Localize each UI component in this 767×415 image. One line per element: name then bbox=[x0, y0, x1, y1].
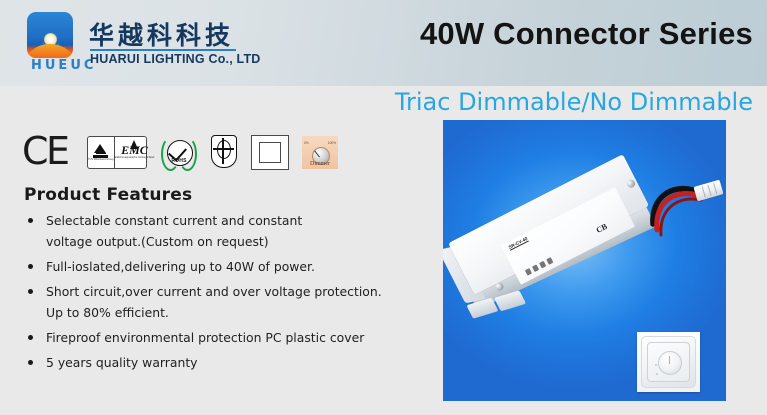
feature-line-1: Full-ioslated,delivering up to 40W of po… bbox=[46, 259, 315, 274]
brand-logo-block[interactable]: HUEUC 华越科科技 HUARUI LIGHTING Co., LTD bbox=[27, 12, 237, 74]
bullet-icon bbox=[28, 218, 33, 223]
brand-wordmark: HUEUC bbox=[31, 58, 96, 73]
wall-dimmer-switch-icon bbox=[637, 332, 700, 392]
rohs-label: ROHS bbox=[160, 158, 198, 164]
feature-item: Fireproof environmental protection PC pl… bbox=[24, 327, 424, 348]
feature-item: Full-ioslated,delivering up to 40W of po… bbox=[24, 256, 424, 277]
feature-line-2: voltage output.(Custom on request) bbox=[46, 231, 424, 252]
features-heading: Product Features bbox=[24, 185, 192, 205]
dimmer-label: Dimmer bbox=[302, 161, 338, 167]
shield-bar bbox=[213, 148, 234, 150]
page-subtitle: Triac Dimmable/No Dimmable bbox=[395, 88, 753, 116]
brand-divider-rule bbox=[90, 49, 236, 51]
ce-mark-icon: C E bbox=[22, 135, 74, 169]
certification-row: C E TUV Rheinland Group EMC Elektromagne… bbox=[22, 131, 338, 173]
feature-item: Short circuit,over current and over volt… bbox=[24, 281, 424, 323]
tuv-half: TUV Rheinland Group bbox=[88, 137, 115, 168]
emc-arrow-icon bbox=[130, 140, 138, 149]
driver-spec-lines-right bbox=[562, 208, 601, 228]
tuv-emc-mark-icon: TUV Rheinland Group EMC Elektromagnetisc… bbox=[87, 136, 147, 169]
brand-name-english: HUARUI LIGHTING Co., LTD bbox=[90, 52, 261, 66]
page-title: 40W Connector Series bbox=[420, 16, 753, 52]
bullet-icon bbox=[28, 360, 33, 365]
tuv-triangle-icon bbox=[93, 144, 108, 158]
feature-line-1: Short circuit,over current and over volt… bbox=[46, 284, 382, 299]
product-banner: HUEUC 华越科科技 HUARUI LIGHTING Co., LTD 40W… bbox=[0, 0, 767, 415]
ce-c-glyph: C bbox=[22, 135, 49, 168]
switch-plate bbox=[641, 336, 696, 388]
class-2-double-insulation-icon bbox=[251, 135, 289, 170]
dimmer-scale-min: 0% bbox=[304, 141, 309, 145]
feature-line-1: Fireproof environmental protection PC pl… bbox=[46, 330, 364, 345]
driver-cb-mark: CB bbox=[595, 222, 609, 235]
driver-label-plate: SR-CV-40 CB bbox=[501, 187, 635, 284]
brand-name-chinese: 华越科科技 bbox=[89, 16, 234, 52]
feature-item: Selectable constant current and constant… bbox=[24, 210, 424, 252]
tuv-caption: TUV Rheinland Group bbox=[88, 158, 114, 161]
feature-line-2: Up to 80% efficient. bbox=[46, 302, 424, 323]
feature-item: 5 years quality warranty bbox=[24, 352, 424, 373]
product-photo-panel: SR-CV-40 CB bbox=[443, 120, 726, 401]
driver-model-text: SR-CV-40 bbox=[508, 236, 529, 250]
sunburst-logo-icon bbox=[27, 12, 73, 58]
emc-caption: Elektromagnetische Vertraglichkeit bbox=[115, 156, 155, 159]
enec-shield-mark-icon bbox=[211, 135, 238, 169]
emc-half: EMC Elektromagnetische Vertraglichkeit bbox=[115, 137, 155, 168]
dimmer-scale-max: 100% bbox=[328, 141, 336, 145]
dimmer-knob-icon: 0% 100% Dimmer bbox=[302, 136, 338, 169]
class-2-inner-square bbox=[259, 142, 281, 163]
ce-e-glyph: E bbox=[46, 135, 70, 168]
bullet-icon bbox=[28, 335, 33, 340]
switch-knob-indicator bbox=[669, 356, 671, 364]
feature-line-1: 5 years quality warranty bbox=[46, 355, 198, 370]
features-list: Selectable constant current and constant… bbox=[24, 210, 424, 377]
rohs-mark-icon: ROHS bbox=[160, 135, 198, 169]
feature-line-1: Selectable constant current and constant bbox=[46, 213, 302, 228]
bullet-icon bbox=[28, 289, 33, 294]
switch-knob bbox=[658, 351, 682, 375]
driver-screw bbox=[626, 178, 637, 189]
bullet-icon bbox=[28, 264, 33, 269]
